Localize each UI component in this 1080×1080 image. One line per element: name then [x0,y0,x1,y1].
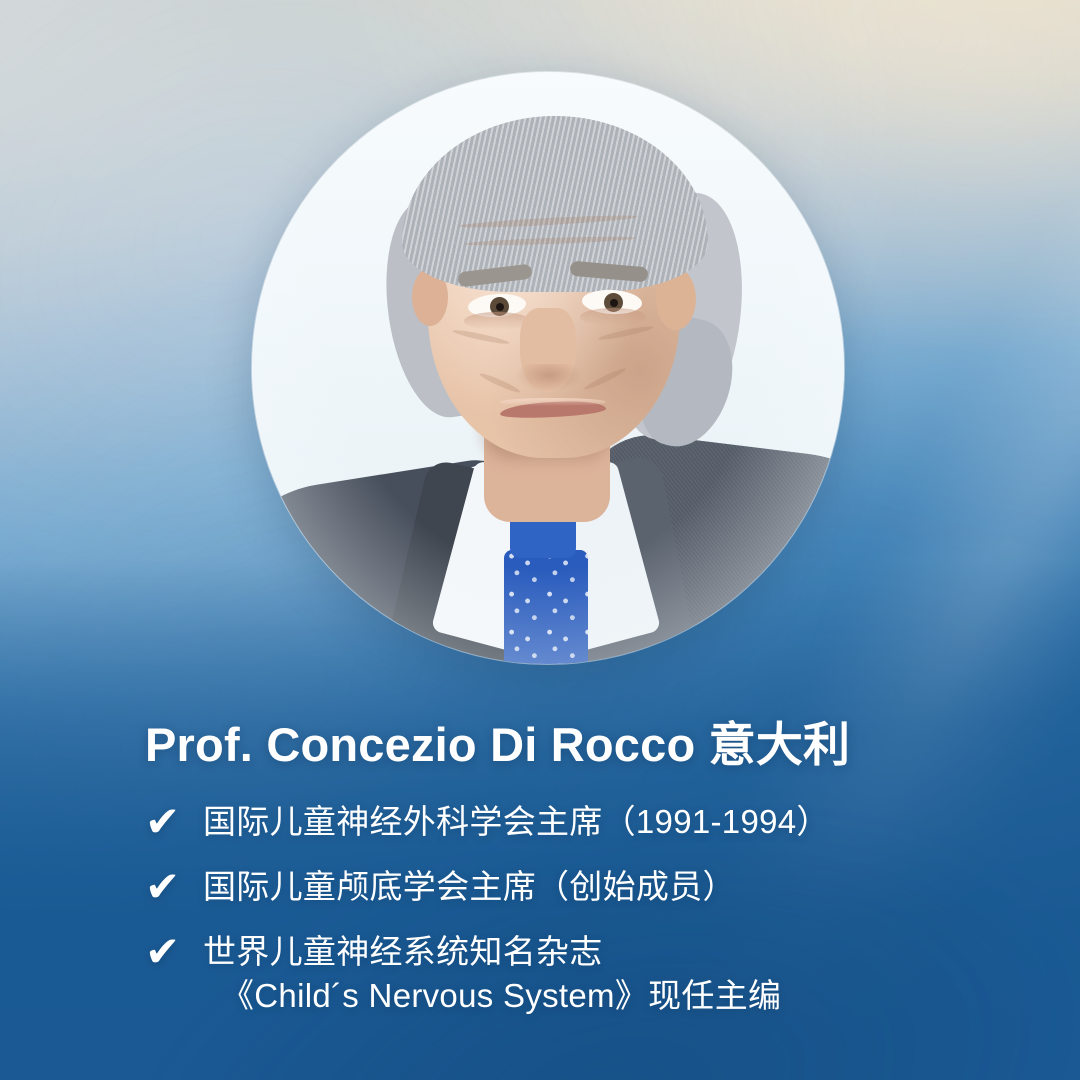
list-item: ✔ 世界儿童神经系统知名杂志《Child´s Nervous System》现任… [145,930,1025,1018]
credential-text: 国际儿童神经外科学会主席（1991-1994） [203,800,830,844]
speaker-profile-card: Prof. Concezio Di Rocco 意大利 ✔ 国际儿童神经外科学会… [0,0,1080,1080]
credential-text: 世界儿童神经系统知名杂志《Child´s Nervous System》现任主编 [203,930,781,1018]
credential-line-1: 国际儿童神经外科学会主席（1991-1994） [203,803,830,840]
page-title: Prof. Concezio Di Rocco 意大利 [145,706,850,775]
list-item: ✔ 国际儿童神经外科学会主席（1991-1994） [145,800,1025,844]
check-icon: ✔ [145,800,203,844]
portrait-avatar [252,72,844,664]
credentials-list: ✔ 国际儿童神经外科学会主席（1991-1994） ✔ 国际儿童颅底学会主席（创… [145,800,1025,1039]
credential-line-1: 世界儿童神经系统知名杂志 [203,933,603,970]
credential-text: 国际儿童颅底学会主席（创始成员） [203,865,736,909]
portrait-vignette [252,72,844,664]
credential-line-1: 国际儿童颅底学会主席（创始成员） [203,868,736,905]
list-item: ✔ 国际儿童颅底学会主席（创始成员） [145,865,1025,909]
check-icon: ✔ [145,865,203,909]
check-icon: ✔ [145,930,203,974]
credential-line-2: 《Child´s Nervous System》现任主编 [203,974,781,1018]
